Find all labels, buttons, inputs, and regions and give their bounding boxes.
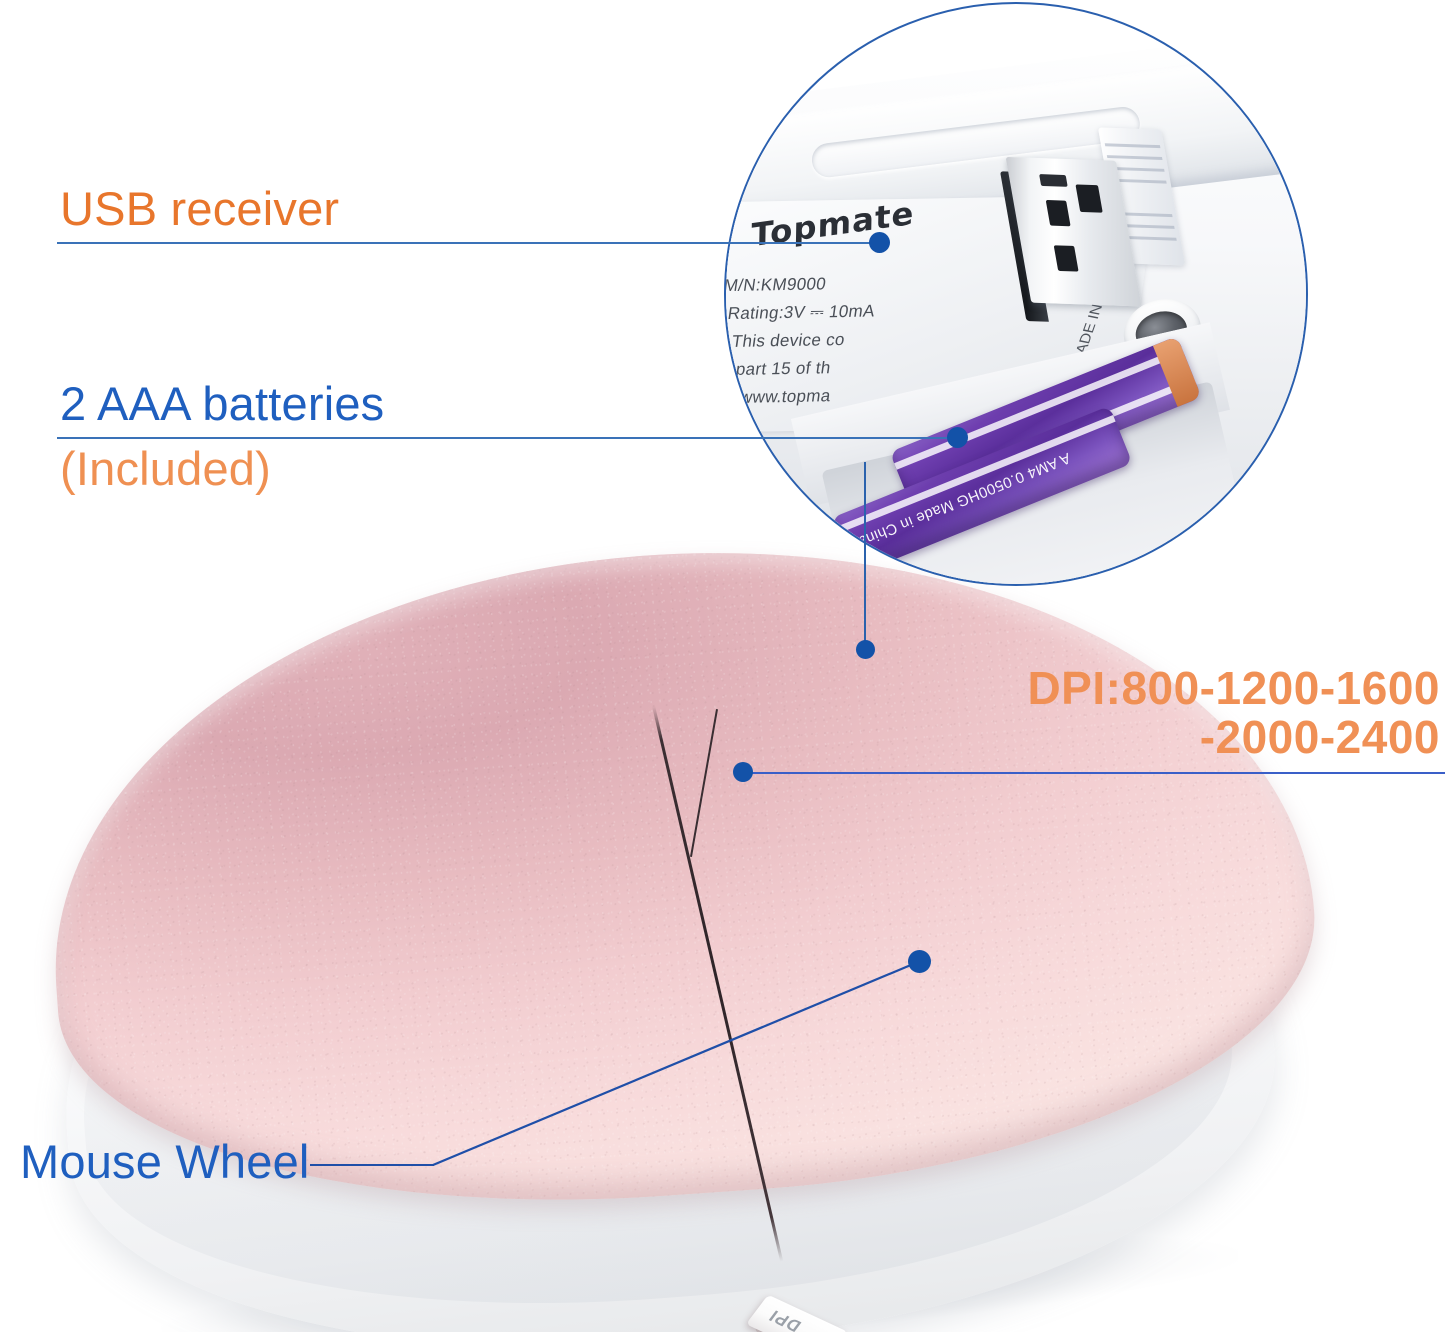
usb-receiver-label: USB receiver <box>60 181 339 236</box>
dpi-levels-line-1: DPI:800-1200-1600 <box>1027 664 1440 713</box>
product-infographic: DPI Topmate M/N:KM9000 Rating:3V ⎓ 10mA … <box>0 0 1445 1332</box>
dpi-levels-line-2: -2000-2400 <box>1027 713 1440 762</box>
dpi-leader-line <box>742 772 1445 774</box>
mouse-wheel-leader-dot <box>908 950 931 973</box>
mouse-underside-plate: Topmate M/N:KM9000 Rating:3V ⎓ 10mA This… <box>724 20 1308 586</box>
spec-line-rating: Rating:3V ⎓ 10mA <box>726 301 876 324</box>
mouse-wheel-leader-line-horizontal <box>310 1164 434 1166</box>
spec-line-website: www.topma <box>739 386 832 408</box>
usb-connector-hole-b <box>1075 184 1102 212</box>
spec-line-compliance-1: This device co <box>730 330 846 352</box>
aaa-batteries-label: 2 AAA batteries <box>60 376 384 431</box>
inset-connector-dot <box>856 640 875 659</box>
spec-line-model: M/N:KM9000 <box>724 274 827 296</box>
aaa-batteries-leader-dot <box>947 427 968 448</box>
spec-line-compliance-2: part 15 of th <box>735 358 832 380</box>
usb-receiver-leader-line <box>57 242 879 244</box>
aaa-batteries-leader-line <box>57 437 957 439</box>
usb-receiver-leader-dot <box>869 232 890 253</box>
dpi-levels-label: DPI:800-1200-1600 -2000-2400 <box>1027 664 1440 762</box>
aaa-batteries-included-label: (Included) <box>60 441 271 496</box>
inset-connector-line <box>864 462 866 648</box>
usb-connector-notch <box>1039 174 1068 187</box>
underside-closeup-inset: Topmate M/N:KM9000 Rating:3V ⎓ 10mA This… <box>724 2 1308 586</box>
dpi-leader-dot <box>733 762 753 782</box>
mouse-wheel-label: Mouse Wheel <box>20 1134 310 1189</box>
topmate-brand-logo: Topmate <box>751 194 915 254</box>
dpi-button-label: DPI <box>765 1306 806 1332</box>
